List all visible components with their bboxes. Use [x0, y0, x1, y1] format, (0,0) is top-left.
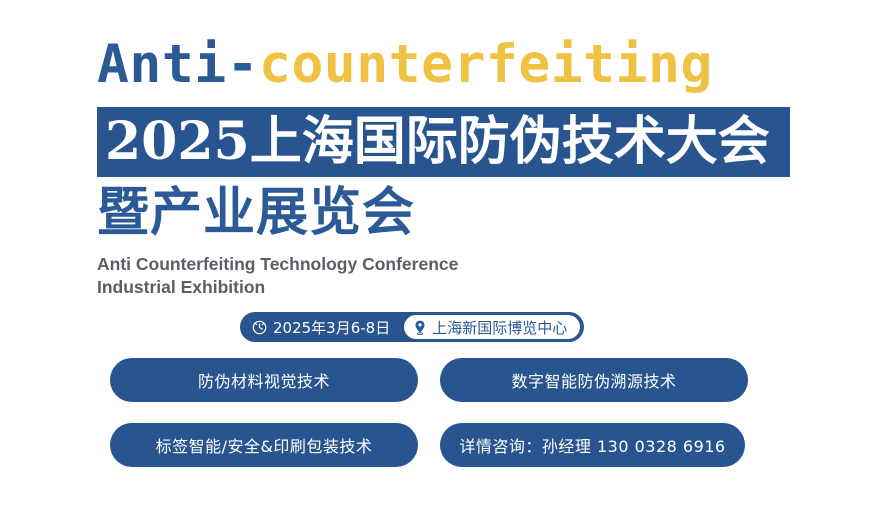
topic-button-materials[interactable]: 防伪材料视觉技术: [110, 358, 418, 402]
main-title-band: 2025上海国际防伪技术大会: [97, 107, 790, 177]
headline-prefix: Anti-: [97, 34, 259, 95]
headline-english: Anti-counterfeiting: [97, 34, 857, 96]
event-date: 2025年3月6-8日: [267, 317, 390, 338]
venue-chip: 上海新国际博览中心: [404, 315, 580, 339]
location-pin-icon: [414, 320, 426, 335]
english-subtitle: Anti Counterfeiting Technology Conferenc…: [97, 253, 458, 299]
headline-suffix: counterfeiting: [259, 34, 713, 95]
clock-icon: [252, 320, 267, 335]
topic-button-label-printing[interactable]: 标签智能/安全&印刷包装技术: [110, 423, 418, 467]
date-venue-pill: 2025年3月6-8日 上海新国际博览中心: [240, 312, 584, 342]
event-venue: 上海新国际博览中心: [426, 317, 567, 338]
contact-button[interactable]: 详情咨询：孙经理 130 0328 6916: [440, 423, 745, 467]
topic-button-digital-traceability[interactable]: 数字智能防伪溯源技术: [440, 358, 748, 402]
poster-canvas: Anti-counterfeiting 2025上海国际防伪技术大会 暨产业展览…: [0, 0, 878, 525]
english-subtitle-line-2: Industrial Exhibition: [97, 276, 458, 299]
secondary-title: 暨产业展览会: [97, 182, 415, 244]
date-group: 2025年3月6-8日: [252, 317, 404, 338]
main-title-text: 2025上海国际防伪技术大会: [97, 107, 770, 177]
english-subtitle-line-1: Anti Counterfeiting Technology Conferenc…: [97, 254, 458, 274]
